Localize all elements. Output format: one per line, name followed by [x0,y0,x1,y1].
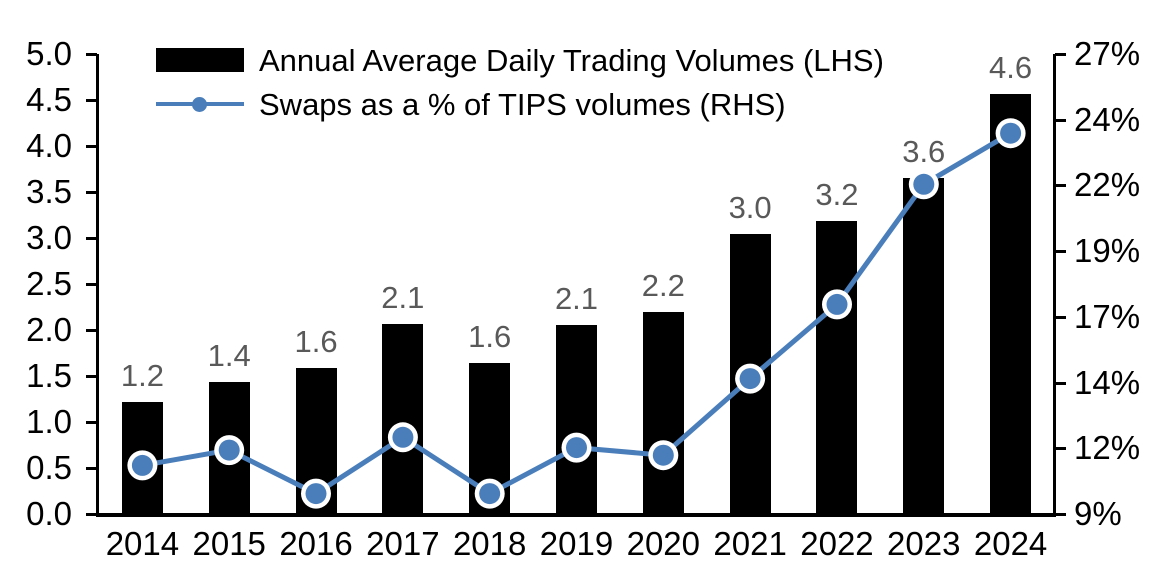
legend-swatch-bar-icon [156,48,244,72]
left-axis-tick [86,237,97,240]
left-axis-tick [86,329,97,332]
bar-2024 [990,94,1031,514]
left-axis-tick [86,53,97,56]
legend-item-bars: Annual Average Daily Trading Volumes (LH… [156,38,884,82]
legend-label-line: Swaps as a % of TIPS volumes (RHS) [259,89,786,120]
x-axis-label-2023: 2023 [874,527,974,560]
bar-2018 [469,363,510,514]
x-axis-label-2017: 2017 [353,527,453,560]
right-axis-tick-label: 24% [1074,103,1140,136]
left-axis-tick [86,421,97,424]
bar-2021 [730,234,771,514]
right-axis-tick [1055,53,1066,56]
x-axis-label-2024: 2024 [961,527,1061,560]
left-axis-tick-label: 0.0 [26,497,72,530]
bar-2020 [643,312,684,514]
left-axis-tick-label: 3.5 [26,175,72,208]
legend-item-line: Swaps as a % of TIPS volumes (RHS) [156,82,884,126]
right-axis-tick [1055,447,1066,450]
left-axis-tick-label: 3.0 [26,221,72,254]
right-axis-tick [1055,316,1066,319]
left-axis-tick-label: 0.5 [26,451,72,484]
bar-data-label-2021: 3.0 [705,192,795,223]
left-axis-tick-label: 2.0 [26,313,72,346]
bar-2019 [556,325,597,514]
left-axis-tick-label: 2.5 [26,267,72,300]
left-axis-tick [86,283,97,286]
bar-2016 [296,368,337,514]
bar-data-label-2023: 3.6 [879,136,969,167]
left-axis-tick [86,375,97,378]
x-axis-label-2019: 2019 [527,527,627,560]
bar-data-label-2020: 2.2 [618,270,708,301]
left-axis-tick-label: 1.5 [26,359,72,392]
chart-legend: Annual Average Daily Trading Volumes (LH… [156,38,884,126]
right-axis-tick [1055,250,1066,253]
left-axis-tick-label: 4.5 [26,83,72,116]
bar-2017 [382,324,423,514]
x-axis-label-2015: 2015 [179,527,279,560]
legend-swatch-line-marker-icon [156,92,244,116]
right-axis-tick-label: 12% [1074,431,1140,464]
bar-data-label-2024: 4.6 [966,52,1056,83]
left-axis-tick [86,99,97,102]
x-axis-label-2020: 2020 [613,527,713,560]
bar-data-label-2022: 3.2 [792,179,882,210]
bar-2015 [209,382,250,514]
x-axis-label-2021: 2021 [700,527,800,560]
right-axis-tick-label: 14% [1074,366,1140,399]
bar-data-label-2017: 2.1 [358,282,448,313]
bar-data-label-2016: 1.6 [271,326,361,357]
right-axis-tick [1055,513,1066,516]
left-axis-tick-label: 4.0 [26,129,72,162]
left-axis-tick-label: 5.0 [26,37,72,70]
right-axis-tick-label: 19% [1074,234,1140,267]
bar-data-label-2014: 1.2 [97,360,187,391]
bar-2023 [903,178,944,514]
left-axis-tick [86,467,97,470]
left-axis-tick [86,191,97,194]
bar-data-label-2018: 1.6 [445,321,535,352]
legend-label-bars: Annual Average Daily Trading Volumes (LH… [259,45,884,76]
right-axis-tick-label: 17% [1074,300,1140,333]
left-axis-tick [86,145,97,148]
x-axis-label-2016: 2016 [266,527,366,560]
right-axis-tick [1055,382,1066,385]
bar-2022 [816,221,857,514]
bar-data-label-2019: 2.1 [532,283,622,314]
x-axis-label-2022: 2022 [787,527,887,560]
chart-container: 0.00.51.01.52.02.53.03.54.04.55.0 9%12%1… [0,0,1152,584]
right-axis-tick [1055,119,1066,122]
right-axis-tick-label: 22% [1074,168,1140,201]
x-axis-label-2014: 2014 [92,527,192,560]
right-axis-tick [1055,184,1066,187]
right-axis-tick-label: 27% [1074,37,1140,70]
bar-data-label-2015: 1.4 [184,340,274,371]
right-axis-tick-label: 9% [1074,497,1122,530]
left-axis-tick-label: 1.0 [26,405,72,438]
bar-2014 [122,402,163,514]
x-axis-label-2018: 2018 [440,527,540,560]
